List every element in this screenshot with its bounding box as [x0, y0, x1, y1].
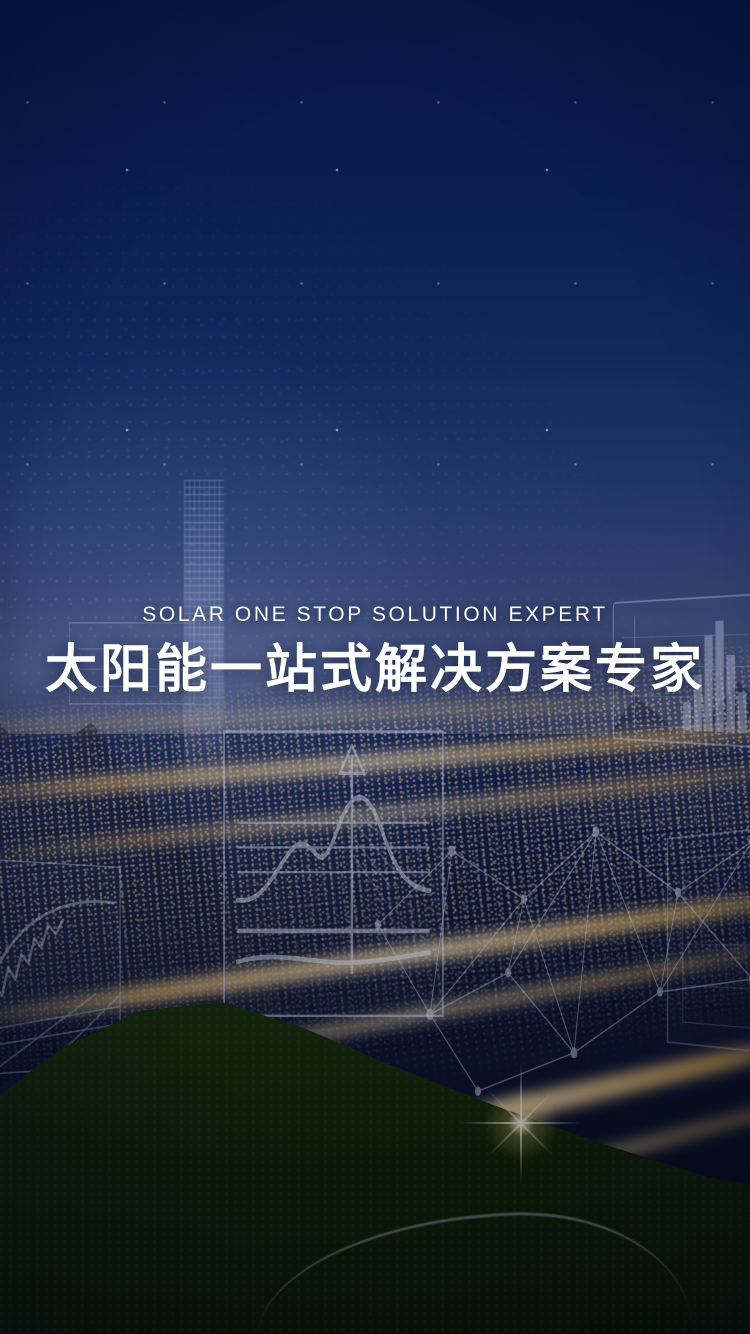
hero-subtitle: SOLAR ONE STOP SOLUTION EXPERT [0, 603, 750, 627]
hero-headline: 太阳能一站式解决方案专家 [0, 641, 750, 701]
hero-copy: SOLAR ONE STOP SOLUTION EXPERT 太阳能一站式解决方… [0, 603, 750, 701]
hero-banner: SOLAR ONE STOP SOLUTION EXPERT 太阳能一站式解决方… [0, 0, 750, 1334]
